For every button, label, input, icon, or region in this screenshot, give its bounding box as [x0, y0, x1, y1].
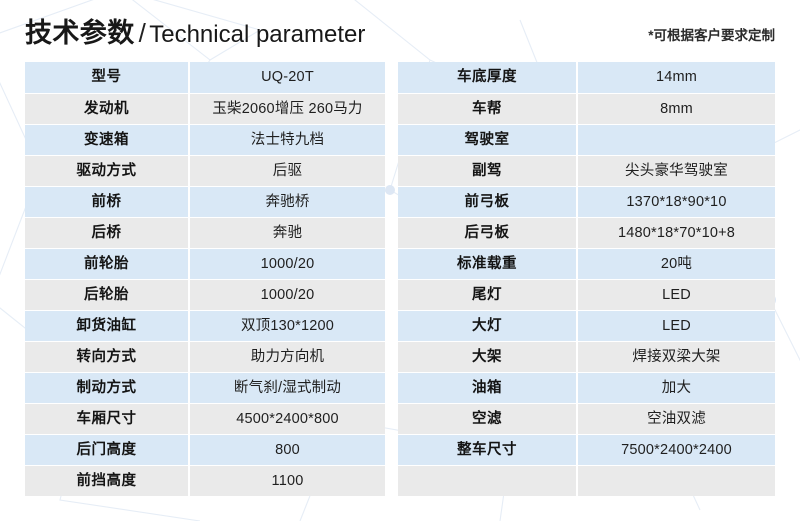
- spec-value: 加大: [578, 373, 775, 403]
- table-row: [398, 465, 775, 496]
- table-row: 车厢尺寸4500*2400*800: [25, 403, 385, 434]
- table-row: 大架焊接双梁大架: [398, 341, 775, 372]
- spec-label: 后桥: [25, 218, 190, 248]
- table-row: 后轮胎1000/20: [25, 279, 385, 310]
- spec-value: 7500*2400*2400: [578, 435, 775, 465]
- spec-value: 1370*18*90*10: [578, 187, 775, 217]
- spec-table-left: 型号UQ-20T发动机玉柴2060增压 260马力变速箱法士特九档驱动方式后驱前…: [25, 62, 385, 496]
- spec-value: 助力方向机: [190, 342, 385, 372]
- spec-label: 驾驶室: [398, 125, 578, 155]
- spec-value: 尖头豪华驾驶室: [578, 156, 775, 186]
- spec-label: 转向方式: [25, 342, 190, 372]
- spec-label: 大架: [398, 342, 578, 372]
- spec-value: 20吨: [578, 249, 775, 279]
- spec-value: 奔驰桥: [190, 187, 385, 217]
- spec-label: 副驾: [398, 156, 578, 186]
- spec-value: 1000/20: [190, 280, 385, 310]
- spec-value: 空油双滤: [578, 404, 775, 434]
- spec-label: 后门高度: [25, 435, 190, 465]
- spec-label: 后弓板: [398, 218, 578, 248]
- spec-label: 型号: [25, 62, 190, 93]
- spec-value: 800: [190, 435, 385, 465]
- table-row: 后桥奔驰: [25, 217, 385, 248]
- table-row: 前挡高度1100: [25, 465, 385, 496]
- table-row: 前桥奔驰桥: [25, 186, 385, 217]
- table-row: 尾灯LED: [398, 279, 775, 310]
- table-row: 后门高度800: [25, 434, 385, 465]
- spec-label: 变速箱: [25, 125, 190, 155]
- spec-label: 前挡高度: [25, 466, 190, 496]
- spec-label: 空滤: [398, 404, 578, 434]
- spec-value: 14mm: [578, 62, 775, 93]
- table-row: 驱动方式后驱: [25, 155, 385, 186]
- spec-value: UQ-20T: [190, 62, 385, 93]
- table-row: 车底厚度14mm: [398, 62, 775, 93]
- table-row: 空滤空油双滤: [398, 403, 775, 434]
- table-row: 驾驶室: [398, 124, 775, 155]
- table-row: 整车尺寸7500*2400*2400: [398, 434, 775, 465]
- spec-value: 8mm: [578, 94, 775, 124]
- spec-label: 前桥: [25, 187, 190, 217]
- spec-value: [578, 125, 775, 155]
- spec-label: 前弓板: [398, 187, 578, 217]
- spec-label: 发动机: [25, 94, 190, 124]
- spec-value: 玉柴2060增压 260马力: [190, 94, 385, 124]
- table-row: 转向方式助力方向机: [25, 341, 385, 372]
- tech-spec-page: 技术参数/Technical parameter *可根据客户要求定制 型号UQ…: [0, 0, 800, 521]
- spec-label: 驱动方式: [25, 156, 190, 186]
- table-row: 车帮8mm: [398, 93, 775, 124]
- spec-value: LED: [578, 311, 775, 341]
- spec-value: 1100: [190, 466, 385, 496]
- spec-value: 后驱: [190, 156, 385, 186]
- table-row: 前弓板1370*18*90*10: [398, 186, 775, 217]
- spec-label: 卸货油缸: [25, 311, 190, 341]
- table-row: 制动方式断气刹/湿式制动: [25, 372, 385, 403]
- customization-note: *可根据客户要求定制: [648, 28, 775, 44]
- spec-label: 大灯: [398, 311, 578, 341]
- spec-value: 1000/20: [190, 249, 385, 279]
- spec-value: [578, 466, 775, 496]
- spec-label: 尾灯: [398, 280, 578, 310]
- spec-value: LED: [578, 280, 775, 310]
- table-row: 副驾尖头豪华驾驶室: [398, 155, 775, 186]
- spec-label: 制动方式: [25, 373, 190, 403]
- table-row: 变速箱法士特九档: [25, 124, 385, 155]
- spec-label: 车底厚度: [398, 62, 578, 93]
- spec-value: 奔驰: [190, 218, 385, 248]
- table-row: 后弓板1480*18*70*10+8: [398, 217, 775, 248]
- spec-table-right: 车底厚度14mm车帮8mm驾驶室副驾尖头豪华驾驶室前弓板1370*18*90*1…: [398, 62, 775, 496]
- spec-value: 1480*18*70*10+8: [578, 218, 775, 248]
- spec-label: 车帮: [398, 94, 578, 124]
- table-row: 标准载重20吨: [398, 248, 775, 279]
- spec-label: 整车尺寸: [398, 435, 578, 465]
- table-row: 油箱加大: [398, 372, 775, 403]
- spec-value: 双顶130*1200: [190, 311, 385, 341]
- table-row: 型号UQ-20T: [25, 62, 385, 93]
- spec-label: [398, 466, 578, 496]
- spec-label: 标准载重: [398, 249, 578, 279]
- table-row: 大灯LED: [398, 310, 775, 341]
- spec-label: 后轮胎: [25, 280, 190, 310]
- spec-value: 焊接双梁大架: [578, 342, 775, 372]
- spec-value: 断气刹/湿式制动: [190, 373, 385, 403]
- spec-value: 法士特九档: [190, 125, 385, 155]
- spec-label: 车厢尺寸: [25, 404, 190, 434]
- spec-label: 前轮胎: [25, 249, 190, 279]
- spec-value: 4500*2400*800: [190, 404, 385, 434]
- table-row: 卸货油缸双顶130*1200: [25, 310, 385, 341]
- page-title-en: Technical parameter: [149, 21, 365, 48]
- page-title: 技术参数/Technical parameter: [25, 18, 365, 50]
- page-header: 技术参数/Technical parameter *可根据客户要求定制: [0, 0, 800, 58]
- page-title-separator: /: [135, 18, 150, 48]
- page-title-cn: 技术参数: [25, 18, 135, 48]
- table-row: 发动机玉柴2060增压 260马力: [25, 93, 385, 124]
- table-row: 前轮胎1000/20: [25, 248, 385, 279]
- spec-label: 油箱: [398, 373, 578, 403]
